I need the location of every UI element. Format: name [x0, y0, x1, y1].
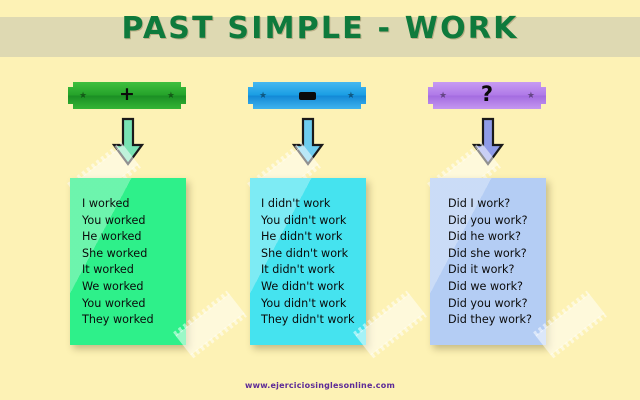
list-item: I didn't work	[261, 196, 362, 213]
arrow-down-icon-affirmative	[111, 117, 145, 167]
plus-icon: +	[119, 85, 135, 104]
conjugation-list-interrogative: Did I work? Did you work? Did he work? D…	[448, 196, 542, 329]
list-item: He worked	[82, 229, 182, 246]
list-item: You worked	[82, 296, 182, 313]
minus-icon	[299, 92, 316, 100]
list-item: Did she work?	[448, 246, 542, 263]
worksheet-page: PAST SIMPLE - WORK ★ + ★ I worked You wo…	[0, 0, 640, 400]
star-icon-right: ★	[347, 91, 355, 100]
star-icon-left: ★	[439, 91, 447, 100]
note-card-interrogative: Did I work? Did you work? Did he work? D…	[430, 178, 546, 345]
question-icon: ?	[481, 84, 493, 105]
star-icon-right: ★	[527, 91, 535, 100]
list-item: It worked	[82, 262, 182, 279]
list-item: She didn't work	[261, 246, 362, 263]
footer-website-url[interactable]: www.ejerciciosinglesonline.com	[0, 381, 640, 390]
list-item: We didn't work	[261, 279, 362, 296]
list-item: We worked	[82, 279, 182, 296]
list-item: You didn't work	[261, 296, 362, 313]
arrow-down-icon-interrogative	[471, 117, 505, 167]
list-item: Did we work?	[448, 279, 542, 296]
banner-interrogative: ★ ? ★	[428, 82, 546, 109]
list-item: They worked	[82, 312, 182, 329]
column-negative: ★ ★ I didn't work You didn't work He did…	[208, 0, 408, 400]
list-item: He didn't work	[261, 229, 362, 246]
star-icon-right: ★	[167, 91, 175, 100]
list-item: They didn't work	[261, 312, 362, 329]
list-item: You didn't work	[261, 213, 362, 230]
banner-negative: ★ ★	[248, 82, 366, 109]
list-item: I worked	[82, 196, 182, 213]
list-item: Did they work?	[448, 312, 542, 329]
column-affirmative: ★ + ★ I worked You worked He worked She …	[28, 0, 228, 400]
list-item: You worked	[82, 213, 182, 230]
star-icon-left: ★	[79, 91, 87, 100]
list-item: Did you work?	[448, 213, 542, 230]
list-item: Did he work?	[448, 229, 542, 246]
list-item: Did it work?	[448, 262, 542, 279]
list-item: She worked	[82, 246, 182, 263]
column-interrogative: ★ ? ★ Did I work? Did you work? Did he w…	[388, 0, 588, 400]
list-item: Did I work?	[448, 196, 542, 213]
list-item: It didn't work	[261, 262, 362, 279]
conjugation-list-affirmative: I worked You worked He worked She worked…	[82, 196, 182, 329]
arrow-down-icon-negative	[291, 117, 325, 167]
conjugation-list-negative: I didn't work You didn't work He didn't …	[261, 196, 362, 329]
banner-affirmative: ★ + ★	[68, 82, 186, 109]
note-card-negative: I didn't work You didn't work He didn't …	[250, 178, 366, 345]
star-icon-left: ★	[259, 91, 267, 100]
list-item: Did you work?	[448, 296, 542, 313]
note-card-affirmative: I worked You worked He worked She worked…	[70, 178, 186, 345]
